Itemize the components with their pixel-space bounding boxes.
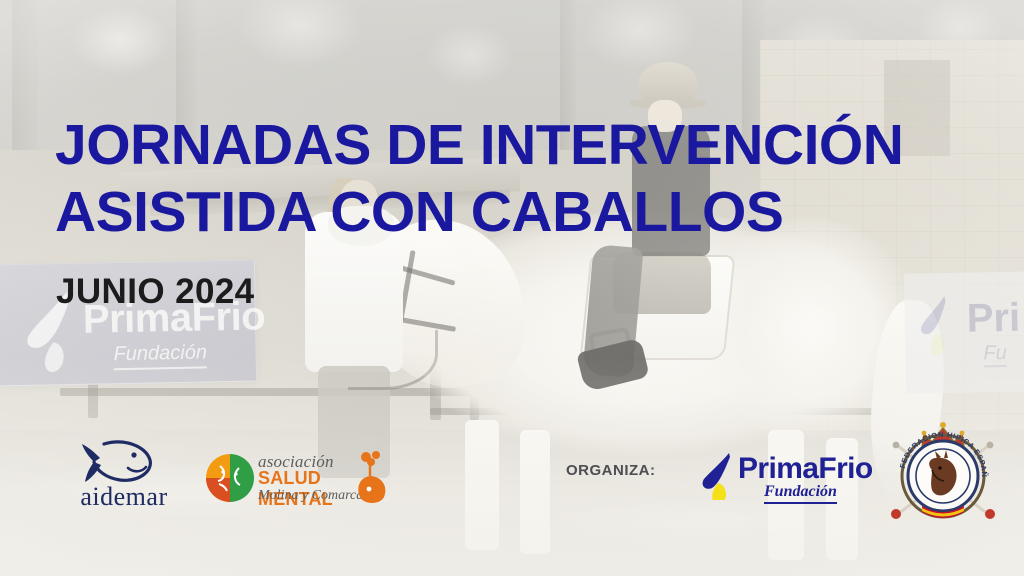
banner-brand-sub: Fundación — [113, 341, 207, 370]
headline-line-1: JORNADAS DE INTERVENCIÓN — [55, 113, 903, 177]
organiza-label: ORGANIZA: — [566, 462, 656, 479]
circle-faces-icon — [206, 454, 254, 502]
page-title: JORNADAS DE INTERVENCIÓN ASISTIDA CON CA… — [55, 112, 955, 247]
tree-person-icon — [350, 448, 392, 506]
event-date: JUNIO 2024 — [56, 272, 255, 312]
logo-federacion-hipica-espanola: FEDERACION HIPICA ESPAÑOLA — [888, 418, 998, 528]
banner-brand-text: Pri — [966, 296, 1020, 342]
primafrio-sub-text: Fundación — [764, 483, 837, 504]
poster-canvas: PrimaFrio Fundación Pri Fu JORNADAS DE I… — [0, 0, 1024, 576]
banner-brand-sub: Fu — [983, 342, 1007, 367]
logo-salud-mental: asociación SALUD MENTAL Molina y Comarca — [206, 448, 386, 510]
horse-leg — [520, 430, 550, 554]
logo-aidemar: aidemar — [56, 438, 186, 508]
crown-horse-emblem-icon: FEDERACION HIPICA ESPAÑOLA — [888, 418, 998, 528]
salud-line-3: Molina y Comarca — [258, 488, 363, 504]
logo-aidemar-text: aidemar — [62, 482, 186, 512]
swoosh-drop-icon — [700, 452, 740, 500]
primafrio-brand-text: PrimaFrio — [738, 452, 873, 486]
logo-primafrio: PrimaFrio Fundación — [700, 450, 868, 506]
background-banner-primafrio-right: Pri Fu — [904, 270, 1024, 393]
horse-leg — [465, 420, 499, 550]
swoosh-drop-icon — [918, 295, 957, 358]
headline-line-2: ASISTIDA CON CABALLOS — [55, 179, 955, 246]
whale-icon — [80, 438, 158, 484]
